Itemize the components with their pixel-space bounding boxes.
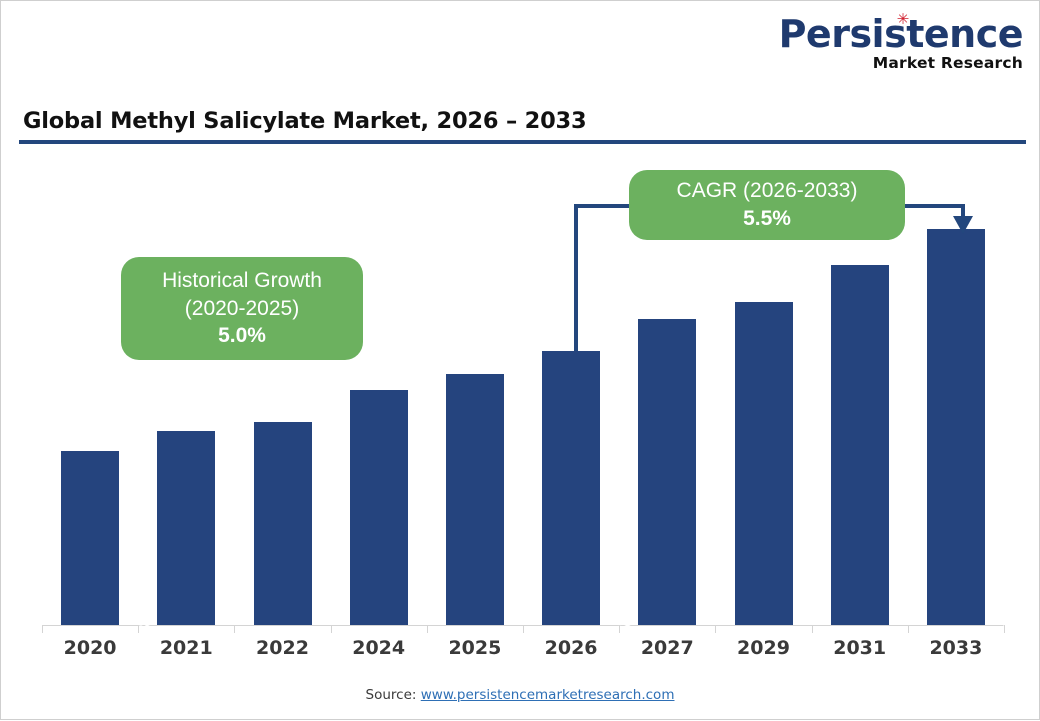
- historical-growth-callout: Historical Growth (2020-2025) 5.0%: [121, 257, 363, 360]
- x-axis-tick: [138, 625, 139, 633]
- x-axis-tick: [715, 625, 716, 633]
- historical-growth-line1: Historical Growth: [162, 267, 322, 295]
- bar-2031: [831, 265, 889, 625]
- x-axis-label-2024: 2024: [331, 637, 427, 659]
- x-axis-label-2029: 2029: [715, 637, 811, 659]
- historical-growth-line2: (2020-2025): [185, 295, 299, 323]
- x-axis-label-2025: 2025: [427, 637, 523, 659]
- bar-2024: [350, 390, 408, 625]
- bar-value-label-2020: US$ 390.8 Mn: [134, 535, 156, 687]
- bar-value-label-2033: US$ 763.7 Mn: [1000, 535, 1022, 687]
- x-axis-tick: [908, 625, 909, 633]
- historical-growth-value: 5.0%: [218, 322, 266, 350]
- company-logo: Persistence ✳ Market Research: [779, 15, 1023, 72]
- x-axis-tick: [234, 625, 235, 633]
- title-divider: [19, 140, 1026, 144]
- x-axis-label-2031: 2031: [812, 637, 908, 659]
- x-axis-tick: [1004, 625, 1005, 633]
- bar-2021: [157, 431, 215, 625]
- bar-2027: [638, 319, 696, 625]
- cagr-callout: CAGR (2026-2033) 5.5%: [629, 170, 905, 240]
- x-axis-label-2021: 2021: [138, 637, 234, 659]
- cagr-line1: CAGR (2026-2033): [677, 177, 858, 205]
- x-axis-tick: [619, 625, 620, 633]
- x-axis-label-2026: 2026: [523, 637, 619, 659]
- page-title: Global Methyl Salicylate Market, 2026 – …: [23, 108, 586, 134]
- x-axis-label-2033: 2033: [908, 637, 1004, 659]
- x-axis-tick: [331, 625, 332, 633]
- logo-brand-text: Persistence ✳: [779, 15, 1023, 53]
- x-axis-tick: [427, 625, 428, 633]
- logo-tagline: Market Research: [779, 56, 1023, 72]
- bar-2022: [254, 422, 312, 625]
- bar-value-label-2026: US$ 525.0 Mn: [615, 535, 637, 687]
- x-axis-tick: [812, 625, 813, 633]
- bar-2026: US$ 525.0 Mn: [542, 351, 600, 625]
- x-axis-label-2022: 2022: [234, 637, 330, 659]
- x-axis-label-2020: 2020: [42, 637, 138, 659]
- x-axis-tick: [42, 625, 43, 633]
- bar-2020: US$ 390.8 Mn: [61, 451, 119, 625]
- x-axis-label-2027: 2027: [619, 637, 715, 659]
- bar-2025: [446, 374, 504, 625]
- source-prefix: Source:: [366, 687, 421, 703]
- x-axis-tick: [523, 625, 524, 633]
- source-link[interactable]: www.persistencemarketresearch.com: [421, 687, 675, 703]
- bar-2033: US$ 763.7 Mn: [927, 229, 985, 625]
- source-line: Source: www.persistencemarketresearch.co…: [1, 687, 1039, 703]
- logo-star-icon: ✳: [897, 12, 909, 27]
- chart-page: Persistence ✳ Market Research Global Met…: [0, 0, 1040, 720]
- bar-2029: [735, 302, 793, 625]
- cagr-value: 5.5%: [743, 205, 791, 233]
